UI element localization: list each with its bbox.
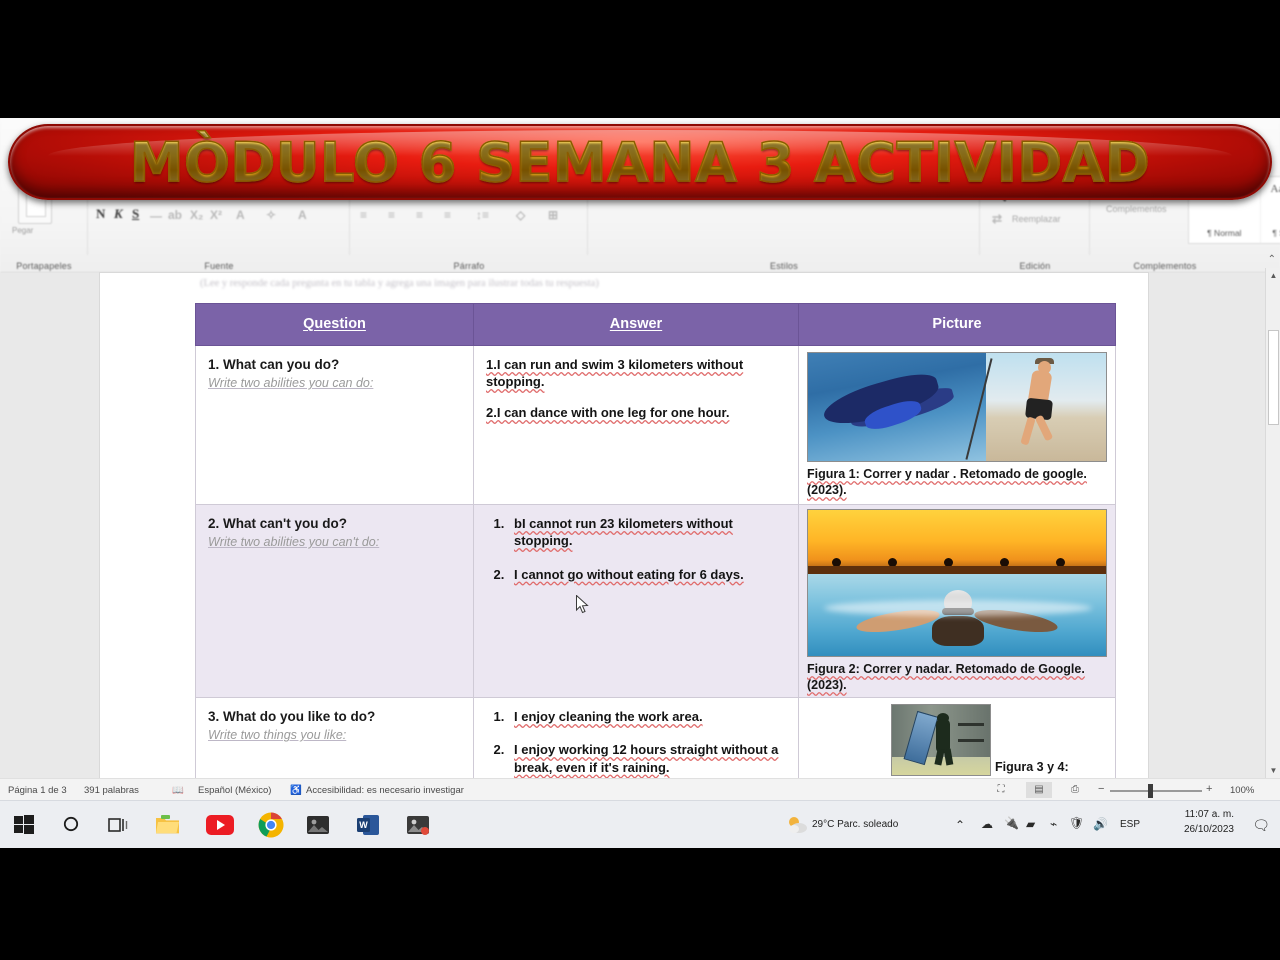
answer-list-2: bI cannot run 23 kilometers without stop… <box>508 515 788 583</box>
bold-button[interactable]: N <box>96 206 105 222</box>
accessibility-icon[interactable]: ♿ <box>290 785 302 796</box>
word-button[interactable]: W <box>352 809 384 841</box>
italic-button[interactable]: K <box>114 206 123 222</box>
video-title-banner: MÒDULO 6 SEMANA 3 ACTIVIDAD <box>8 124 1272 200</box>
start-button[interactable] <box>8 809 40 841</box>
status-words[interactable]: 391 palabras <box>84 785 139 796</box>
volume-icon[interactable]: 🔊 <box>1093 817 1108 831</box>
column-header-question-label: Question <box>303 316 366 332</box>
column-header-picture-label: Picture <box>932 316 981 332</box>
collapse-ribbon-icon[interactable]: ⌃ <box>1268 254 1276 265</box>
column-header-answer: Answer <box>474 304 799 346</box>
column-header-question: Question <box>196 304 474 346</box>
zoom-level[interactable]: 100% <box>1230 785 1254 796</box>
chrome-icon <box>258 812 284 838</box>
task-view-button[interactable] <box>102 809 134 841</box>
answer-list-item: bI cannot run 23 kilometers without stop… <box>508 515 788 550</box>
answer-paragraph: 1.I can run and swim 3 kilometers withou… <box>486 356 788 390</box>
view-web-layout-button[interactable]: ⎙ <box>1062 782 1088 798</box>
subscript-icon[interactable]: ab <box>168 208 182 222</box>
file-explorer-button[interactable] <box>152 809 184 841</box>
group-label-styles: Estilos <box>588 261 980 271</box>
cell-picture-1[interactable]: Figura 1: Correr y nadar . Retomado de g… <box>799 346 1116 505</box>
align-right-icon[interactable]: ≡ <box>416 208 423 222</box>
media-app-button[interactable] <box>302 809 334 841</box>
network-icon[interactable]: ⌁ <box>1050 817 1057 831</box>
svg-text:W: W <box>359 820 368 830</box>
butterfly-swimmer-art <box>808 574 1106 657</box>
cell-question-1[interactable]: 1. What can you do? Write two abilities … <box>196 346 474 505</box>
photo-dark-icon <box>306 814 330 836</box>
figure-3-caption-lead: Figura 3 y 4: <box>995 760 1069 776</box>
column-header-answer-label: Answer <box>610 316 662 332</box>
table-header-row: Question Answer Picture <box>196 304 1116 346</box>
group-label-paragraph: Párrafo <box>350 261 588 271</box>
search-button[interactable] <box>56 809 88 841</box>
question-title-2: 2. What can't you do? <box>208 515 463 533</box>
notifications-icon[interactable]: 🗨 <box>1252 817 1270 834</box>
active-app-button[interactable] <box>402 809 434 841</box>
scroll-thumb[interactable] <box>1268 330 1279 425</box>
photo-app-icon <box>406 814 430 836</box>
scroll-down-icon[interactable]: ▼ <box>1266 763 1280 778</box>
status-language[interactable]: Español (México) <box>198 785 271 796</box>
status-page[interactable]: Página 1 de 3 <box>8 785 67 796</box>
weather-text[interactable]: 29°C Parc. soleado <box>812 819 898 830</box>
question-title-3: 3. What do you like to do? <box>208 708 463 726</box>
beach-runner-art <box>986 353 1106 461</box>
shading-icon[interactable]: ◇ <box>516 208 525 222</box>
folder-icon <box>155 814 181 836</box>
clock[interactable]: 11:07 a. m. 26/10/2023 <box>1184 808 1234 837</box>
font-color-icon[interactable]: A <box>298 208 307 222</box>
cell-answer-1[interactable]: 1.I can run and swim 3 kilometers withou… <box>474 346 799 505</box>
search-icon <box>63 816 81 834</box>
answers-table[interactable]: Question Answer Picture <box>195 303 1116 818</box>
addins-button[interactable]: Complementos <box>1106 204 1167 214</box>
youtube-icon <box>206 815 234 835</box>
antivirus-icon[interactable]: 🛡 <box>1069 816 1084 830</box>
group-label-addins: Complementos <box>1090 261 1240 271</box>
group-label-clipboard: Portapapeles <box>0 261 88 271</box>
youtube-button[interactable] <box>204 809 236 841</box>
group-label-font: Fuente <box>88 261 350 271</box>
style-item-no-spacing[interactable]: AaBbCcDc ¶ Sin espa... <box>1261 177 1280 243</box>
onedrive-icon[interactable]: ☁ <box>981 817 993 831</box>
letterbox-top <box>0 0 1280 118</box>
word-icon: W <box>356 813 380 837</box>
line-spacing-icon[interactable]: ↕≡ <box>476 208 489 222</box>
align-left-icon[interactable]: ≡ <box>360 208 367 222</box>
text-effects-icon[interactable]: A <box>236 208 245 222</box>
table-row[interactable]: 2. What can't you do? Write two abilitie… <box>196 505 1116 698</box>
weather-icon[interactable] <box>786 814 808 836</box>
column-header-picture: Picture <box>799 304 1116 346</box>
zoom-out-button[interactable]: − <box>1098 783 1104 795</box>
replace-label[interactable]: Reemplazar <box>1012 214 1061 224</box>
task-view-icon <box>108 816 128 834</box>
usb-icon[interactable]: 🔌 <box>1004 816 1019 830</box>
windows-logo-icon <box>14 815 34 835</box>
figure-2-caption: Figura 2: Correr y nadar. Retomado de Go… <box>807 661 1107 693</box>
figure-3-image <box>891 704 991 776</box>
document-vertical-scrollbar[interactable]: ▲ ▼ <box>1265 268 1280 778</box>
view-print-layout-button[interactable]: ▤ <box>1026 782 1052 798</box>
answer-list-item: I enjoy cleaning the work area. <box>508 708 788 725</box>
borders-icon[interactable]: ⊞ <box>548 208 558 222</box>
swimmer-underwater-art <box>808 353 986 461</box>
mouse-cursor <box>576 595 590 615</box>
instruction-line: (Lee y responde cada pregunta en tu tabl… <box>200 278 1050 289</box>
superscript-icon[interactable]: X² <box>210 208 222 222</box>
answer-paragraph: 2.I can dance with one leg for one hour. <box>486 404 788 421</box>
document-page[interactable]: (Lee y responde cada pregunta en tu tabl… <box>100 273 1148 778</box>
word-status-bar[interactable]: Página 1 de 3 391 palabras 📖 Español (Mé… <box>0 778 1280 800</box>
figure-2-image <box>807 509 1107 657</box>
windows-taskbar[interactable]: W 29°C Parc. soleado ⌃ ☁ 🔌 <box>0 800 1280 848</box>
table-row[interactable]: 1. What can you do? Write two abilities … <box>196 346 1116 505</box>
zoom-in-button[interactable]: + <box>1206 783 1212 795</box>
chevron-up-icon[interactable]: ⌃ <box>955 818 965 832</box>
scroll-up-icon[interactable]: ▲ <box>1266 268 1280 283</box>
view-read-mode-button[interactable]: ⛶ <box>988 782 1014 798</box>
subscript2-icon[interactable]: X₂ <box>190 208 203 222</box>
letterbox-bottom <box>0 848 1280 960</box>
clock-time: 11:07 a. m. <box>1184 808 1234 823</box>
clock-date: 26/10/2023 <box>1184 823 1234 838</box>
figure-3-row: Figura 3 y 4: <box>807 704 1107 776</box>
answer-list-item: I cannot go without eating for 6 days. <box>508 566 788 583</box>
question-sub-2: Write two abilities you can't do: <box>208 534 463 550</box>
video-title-text: MÒDULO 6 SEMANA 3 ACTIVIDAD <box>130 131 1151 194</box>
chrome-button[interactable] <box>255 809 287 841</box>
question-title-1: 1. What can you do? <box>208 356 463 374</box>
figure-1-image <box>807 352 1107 462</box>
answer-list-item: I enjoy working 12 hours straight withou… <box>508 741 788 776</box>
runners-silhouette-art <box>808 510 1106 574</box>
text-highlight-icon[interactable]: ✧ <box>266 208 276 222</box>
justify-icon[interactable]: ≡ <box>444 208 451 222</box>
group-label-editing: Edición <box>980 261 1090 271</box>
answer-list-3: I enjoy cleaning the work area. I enjoy … <box>508 708 788 776</box>
cell-question-2[interactable]: 2. What can't you do? Write two abilitie… <box>196 505 474 698</box>
align-center-icon[interactable]: ≡ <box>388 208 395 222</box>
question-sub-3: Write two things you like: <box>208 727 463 743</box>
paste-label: Pegar <box>12 226 33 235</box>
underline-button[interactable]: S <box>132 206 139 222</box>
status-accessibility[interactable]: Accesibilidad: es necesario investigar <box>306 785 464 796</box>
question-sub-1: Write two abilities you can do: <box>208 375 463 391</box>
cell-picture-2[interactable]: Figura 2: Correr y nadar. Retomado de Go… <box>799 505 1116 698</box>
figure-1-caption: Figura 1: Correr y nadar . Retomado de g… <box>807 466 1107 498</box>
zoom-slider-track[interactable] <box>1110 790 1202 792</box>
style-name: ¶ Sin espa... <box>1261 228 1280 238</box>
input-language[interactable]: ESP <box>1120 819 1140 830</box>
proofing-icon[interactable]: 📖 <box>172 785 184 796</box>
cell-answer-2[interactable]: bI cannot run 23 kilometers without stop… <box>474 505 799 698</box>
document-workspace[interactable]: (Lee y responde cada pregunta en tu tabl… <box>0 273 1280 778</box>
screen-root: Pegar Portapapeles N K S — ab X₂ X² A ✧ … <box>0 0 1280 960</box>
screen-capture: Pegar Portapapeles N K S — ab X₂ X² A ✧ … <box>0 118 1280 848</box>
strikethrough-icon[interactable]: — <box>150 209 162 223</box>
zoom-slider-thumb[interactable] <box>1148 784 1153 798</box>
replace-icon[interactable]: ⇄ <box>992 212 1002 226</box>
battery-icon[interactable]: ▰ <box>1026 817 1035 831</box>
